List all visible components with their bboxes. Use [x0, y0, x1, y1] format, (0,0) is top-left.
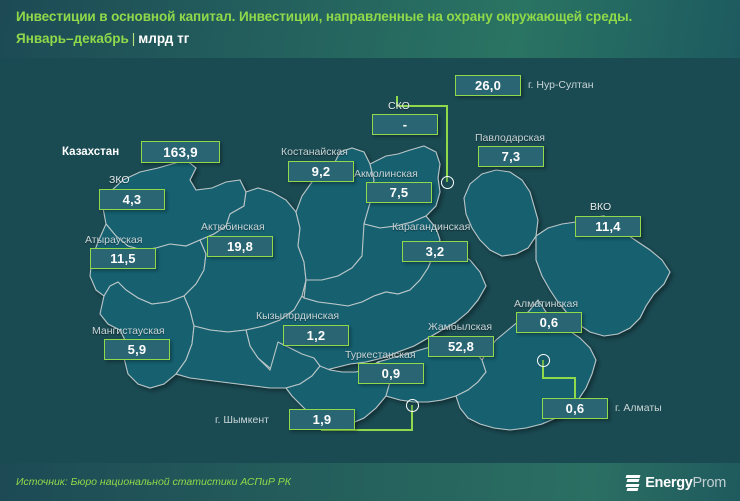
city-value-shymkent[interactable]: 1,9 [289, 409, 355, 430]
region-value-akmola[interactable]: 7,5 [366, 182, 432, 203]
region-value-aktobe[interactable]: 19,8 [207, 236, 273, 257]
city-value-almaty[interactable]: 0,6 [542, 398, 608, 419]
region-value-almaty-region[interactable]: 0,6 [516, 312, 582, 333]
region-value-zhambyl[interactable]: 52,8 [428, 336, 494, 357]
region-value-mangistau[interactable]: 5,9 [104, 339, 170, 360]
city-label-shymkent: г. Шымкент [215, 414, 269, 426]
region-label-aktobe: Актюбинская [201, 221, 265, 233]
infographic-page: Инвестиции в основной капитал. Инвестици… [0, 0, 740, 501]
region-value-kostanay[interactable]: 9,2 [288, 161, 354, 182]
region-value-karaganda[interactable]: 3,2 [402, 241, 468, 262]
region-value-atyrau[interactable]: 11,5 [90, 248, 156, 269]
region-label-sko: СКО [388, 100, 410, 112]
region-label-turkestan: Туркестанская [345, 349, 416, 361]
page-title: Инвестиции в основной капитал. Инвестици… [16, 9, 632, 24]
subtitle: Январь–декабрь|млрд тг [16, 31, 189, 46]
region-label-mangistau: Мангистауская [92, 325, 165, 337]
city-marker-nur-sultan[interactable] [441, 176, 454, 189]
subtitle-separator: | [129, 31, 139, 46]
region-value-turkestan[interactable]: 0,9 [358, 363, 424, 384]
map-canvas: Казахстан 163,9 ЗКО 4,3 Атырауская 11,5 … [0, 58, 740, 463]
source-text: Источник: Бюро национальной статистики А… [16, 476, 291, 488]
region-value-pavlodar[interactable]: 7,3 [478, 146, 544, 167]
region-pavlodar [464, 170, 538, 256]
energyprom-e-icon [626, 475, 641, 491]
city-value-nur-sultan[interactable]: 26,0 [455, 75, 521, 96]
country-total-value[interactable]: 163,9 [141, 141, 220, 163]
region-value-zko[interactable]: 4,3 [99, 189, 165, 210]
region-label-pavlodar: Павлодарская [475, 132, 545, 144]
header-bar: Инвестиции в основной капитал. Инвестици… [0, 0, 740, 58]
city-marker-shymkent[interactable] [406, 399, 419, 412]
region-label-atyrau: Атырауская [85, 234, 142, 246]
city-label-almaty: г. Алматы [615, 402, 662, 414]
region-label-zhambyl: Жамбылская [428, 321, 492, 333]
period-label: Январь–декабрь [16, 31, 129, 46]
city-label-nur-sultan: г. Нур-Султан [528, 79, 594, 91]
region-label-kostanay: Костанайская [281, 146, 348, 158]
logo-text-prom: Prom [693, 475, 726, 491]
country-total-label: Казахстан [62, 146, 119, 158]
region-value-sko[interactable]: - [372, 114, 438, 135]
energyprom-logo[interactable]: EnergyProm [626, 473, 726, 492]
region-label-kyzylorda: Кызылординская [256, 310, 339, 322]
footer-bar: Источник: Бюро национальной статистики А… [0, 463, 740, 501]
region-label-karaganda: Карагандинская [392, 221, 470, 233]
logo-text-energy: Energy [645, 475, 692, 491]
region-value-vko[interactable]: 11,4 [575, 216, 641, 237]
region-label-almaty-region: Алматинская [514, 298, 578, 310]
region-value-kyzylorda[interactable]: 1,2 [283, 325, 349, 346]
unit-label: млрд тг [138, 31, 189, 46]
region-label-zko: ЗКО [109, 174, 130, 186]
region-label-akmola: Акмолинская [354, 168, 418, 180]
region-label-vko: ВКО [590, 201, 611, 213]
city-marker-almaty[interactable] [537, 354, 550, 367]
